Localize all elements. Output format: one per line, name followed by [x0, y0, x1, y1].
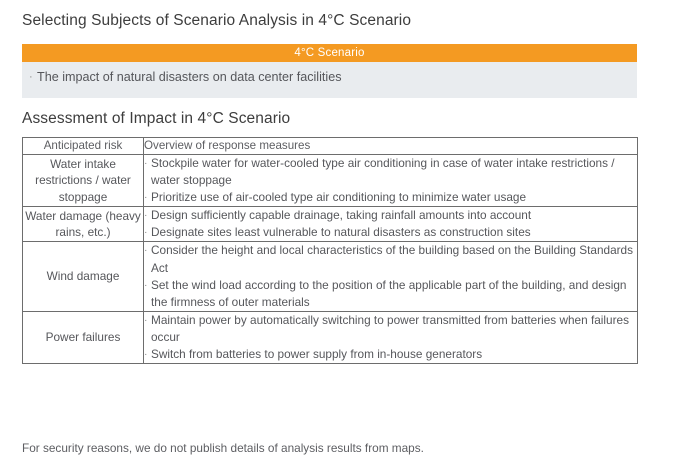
measure-text: Switch from batteries to power supply fr… — [151, 346, 637, 363]
measure-bullet-item: · Designate sites least vulnerable to na… — [144, 224, 637, 241]
measure-bullet-item: · Prioritize use of air-cooled type air … — [144, 189, 637, 206]
bullet-point-icon: · — [144, 346, 151, 362]
measure-text: Prioritize use of air-cooled type air co… — [151, 189, 637, 206]
bullet-point-icon: · — [144, 155, 151, 171]
bullet-point-icon: · — [144, 189, 151, 205]
measure-text: Design sufficiently capable drainage, ta… — [151, 207, 637, 224]
measure-bullet-item: · Design sufficiently capable drainage, … — [144, 207, 637, 224]
bullet-point-icon: · — [144, 224, 151, 240]
table-row: Water intake restrictions / water stoppa… — [23, 155, 638, 207]
scenario-bullet-text: The impact of natural disasters on data … — [37, 70, 342, 86]
measure-bullet-item: · Consider the height and local characte… — [144, 242, 637, 276]
table-row: Water damage (heavy rains, etc.) · Desig… — [23, 207, 638, 242]
bullet-point-icon: · — [144, 207, 151, 223]
column-header-response-measures: Overview of response measures — [144, 138, 638, 155]
footnote-security-notice: For security reasons, we do not publish … — [22, 441, 424, 455]
bullet-point-icon: · — [144, 312, 151, 328]
measure-text: Set the wind load according to the posit… — [151, 277, 637, 311]
section-heading-scenario-subjects: Selecting Subjects of Scenario Analysis … — [22, 12, 411, 30]
table-row: Power failures · Maintain power by autom… — [23, 311, 638, 363]
document-page: Selecting Subjects of Scenario Analysis … — [0, 0, 700, 475]
cell-response-measures: · Design sufficiently capable drainage, … — [144, 207, 638, 242]
scenario-body-panel: · The impact of natural disasters on dat… — [22, 62, 637, 98]
measure-bullet-item: · Stockpile water for water-cooled type … — [144, 155, 637, 189]
measure-bullet-item: · Maintain power by automatically switch… — [144, 312, 637, 346]
measure-bullet-item: · Set the wind load according to the pos… — [144, 277, 637, 311]
bullet-point-icon: · — [29, 70, 37, 85]
impact-assessment-table: Anticipated risk Overview of response me… — [22, 137, 638, 364]
cell-anticipated-risk: Water intake restrictions / water stoppa… — [23, 155, 144, 207]
column-header-anticipated-risk: Anticipated risk — [23, 138, 144, 155]
measure-bullet-item: · Switch from batteries to power supply … — [144, 346, 637, 363]
cell-response-measures: · Consider the height and local characte… — [144, 242, 638, 311]
cell-anticipated-risk: Water damage (heavy rains, etc.) — [23, 207, 144, 242]
bullet-point-icon: · — [144, 277, 151, 293]
cell-response-measures: · Maintain power by automatically switch… — [144, 311, 638, 363]
cell-anticipated-risk: Wind damage — [23, 242, 144, 311]
cell-anticipated-risk: Power failures — [23, 311, 144, 363]
section-heading-assessment-of-impact: Assessment of Impact in 4°C Scenario — [22, 110, 290, 128]
scenario-band-header: 4°C Scenario — [22, 44, 637, 62]
scenario-band-label: 4°C Scenario — [294, 47, 364, 59]
measure-text: Designate sites least vulnerable to natu… — [151, 224, 637, 241]
table-header-row: Anticipated risk Overview of response me… — [23, 138, 638, 155]
measure-text: Maintain power by automatically switchin… — [151, 312, 637, 346]
table-row: Wind damage · Consider the height and lo… — [23, 242, 638, 311]
measure-text: Consider the height and local characteri… — [151, 242, 637, 276]
cell-response-measures: · Stockpile water for water-cooled type … — [144, 155, 638, 207]
measure-text: Stockpile water for water-cooled type ai… — [151, 155, 637, 189]
scenario-bullet-item: · The impact of natural disasters on dat… — [29, 70, 637, 86]
bullet-point-icon: · — [144, 242, 151, 258]
